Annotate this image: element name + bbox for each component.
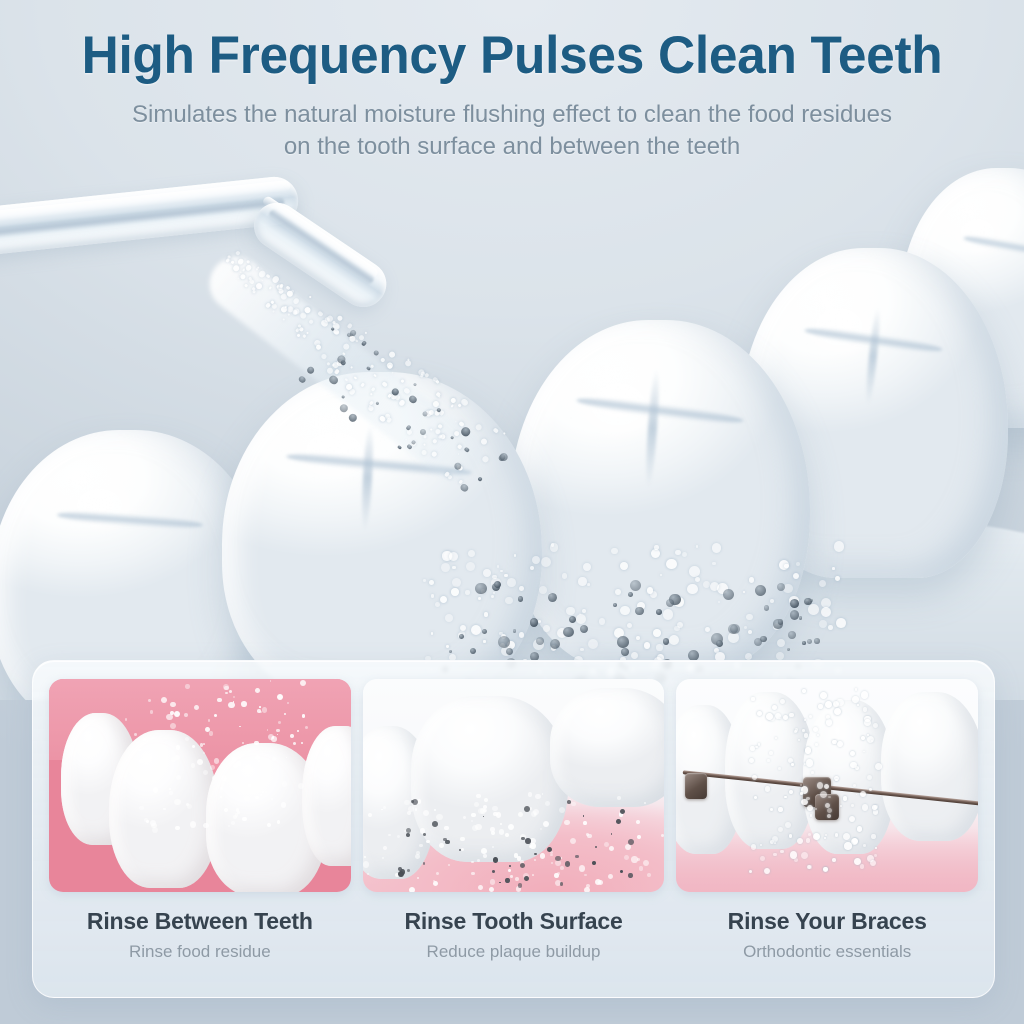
card-subtitle: Rinse food residue <box>49 942 351 962</box>
thumb-tooth <box>550 688 665 807</box>
header-block: High Frequency Pulses Clean Teeth Simula… <box>0 0 1024 163</box>
product-feature-banner: High Frequency Pulses Clean Teeth Simula… <box>0 0 1024 1024</box>
molar-tooth-2 <box>510 320 810 670</box>
card-subtitle: Reduce plaque buildup <box>363 942 665 962</box>
subtitle-line-1: Simulates the natural moisture flushing … <box>47 99 977 131</box>
feature-card-rinse-tooth-surface[interactable]: Rinse Tooth Surface Reduce plaque buildu… <box>363 679 665 997</box>
feature-card-rinse-your-braces[interactable]: Rinse Your Braces Orthodontic essentials <box>676 679 978 997</box>
card-title: Rinse Tooth Surface <box>363 908 665 935</box>
feature-card-rinse-between-teeth[interactable]: Rinse Between Teeth Rinse food residue <box>49 679 351 997</box>
rinse-between-teeth-thumbnail <box>49 679 351 892</box>
tooth-highlight <box>254 398 414 504</box>
thumb-tooth <box>411 696 568 862</box>
card-title: Rinse Between Teeth <box>49 908 351 935</box>
rinse-your-braces-thumbnail <box>676 679 978 892</box>
page-title: High Frequency Pulses Clean Teeth <box>15 0 1008 85</box>
page-subtitle: Simulates the natural moisture flushing … <box>47 99 977 162</box>
feature-card-panel: Rinse Between Teeth Rinse food residue R… <box>32 660 995 998</box>
nozzle-tip <box>245 194 395 316</box>
card-title: Rinse Your Braces <box>676 908 978 935</box>
water-flosser-nozzle <box>0 178 460 388</box>
thumb-tooth <box>881 692 978 841</box>
card-subtitle: Orthodontic essentials <box>676 942 978 962</box>
braces-bracket <box>685 773 707 799</box>
subtitle-line-2: on the tooth surface and between the tee… <box>47 131 977 163</box>
rinse-tooth-surface-thumbnail <box>363 679 665 892</box>
molar-tooth-1 <box>222 372 542 700</box>
tooth-highlight <box>35 460 164 550</box>
